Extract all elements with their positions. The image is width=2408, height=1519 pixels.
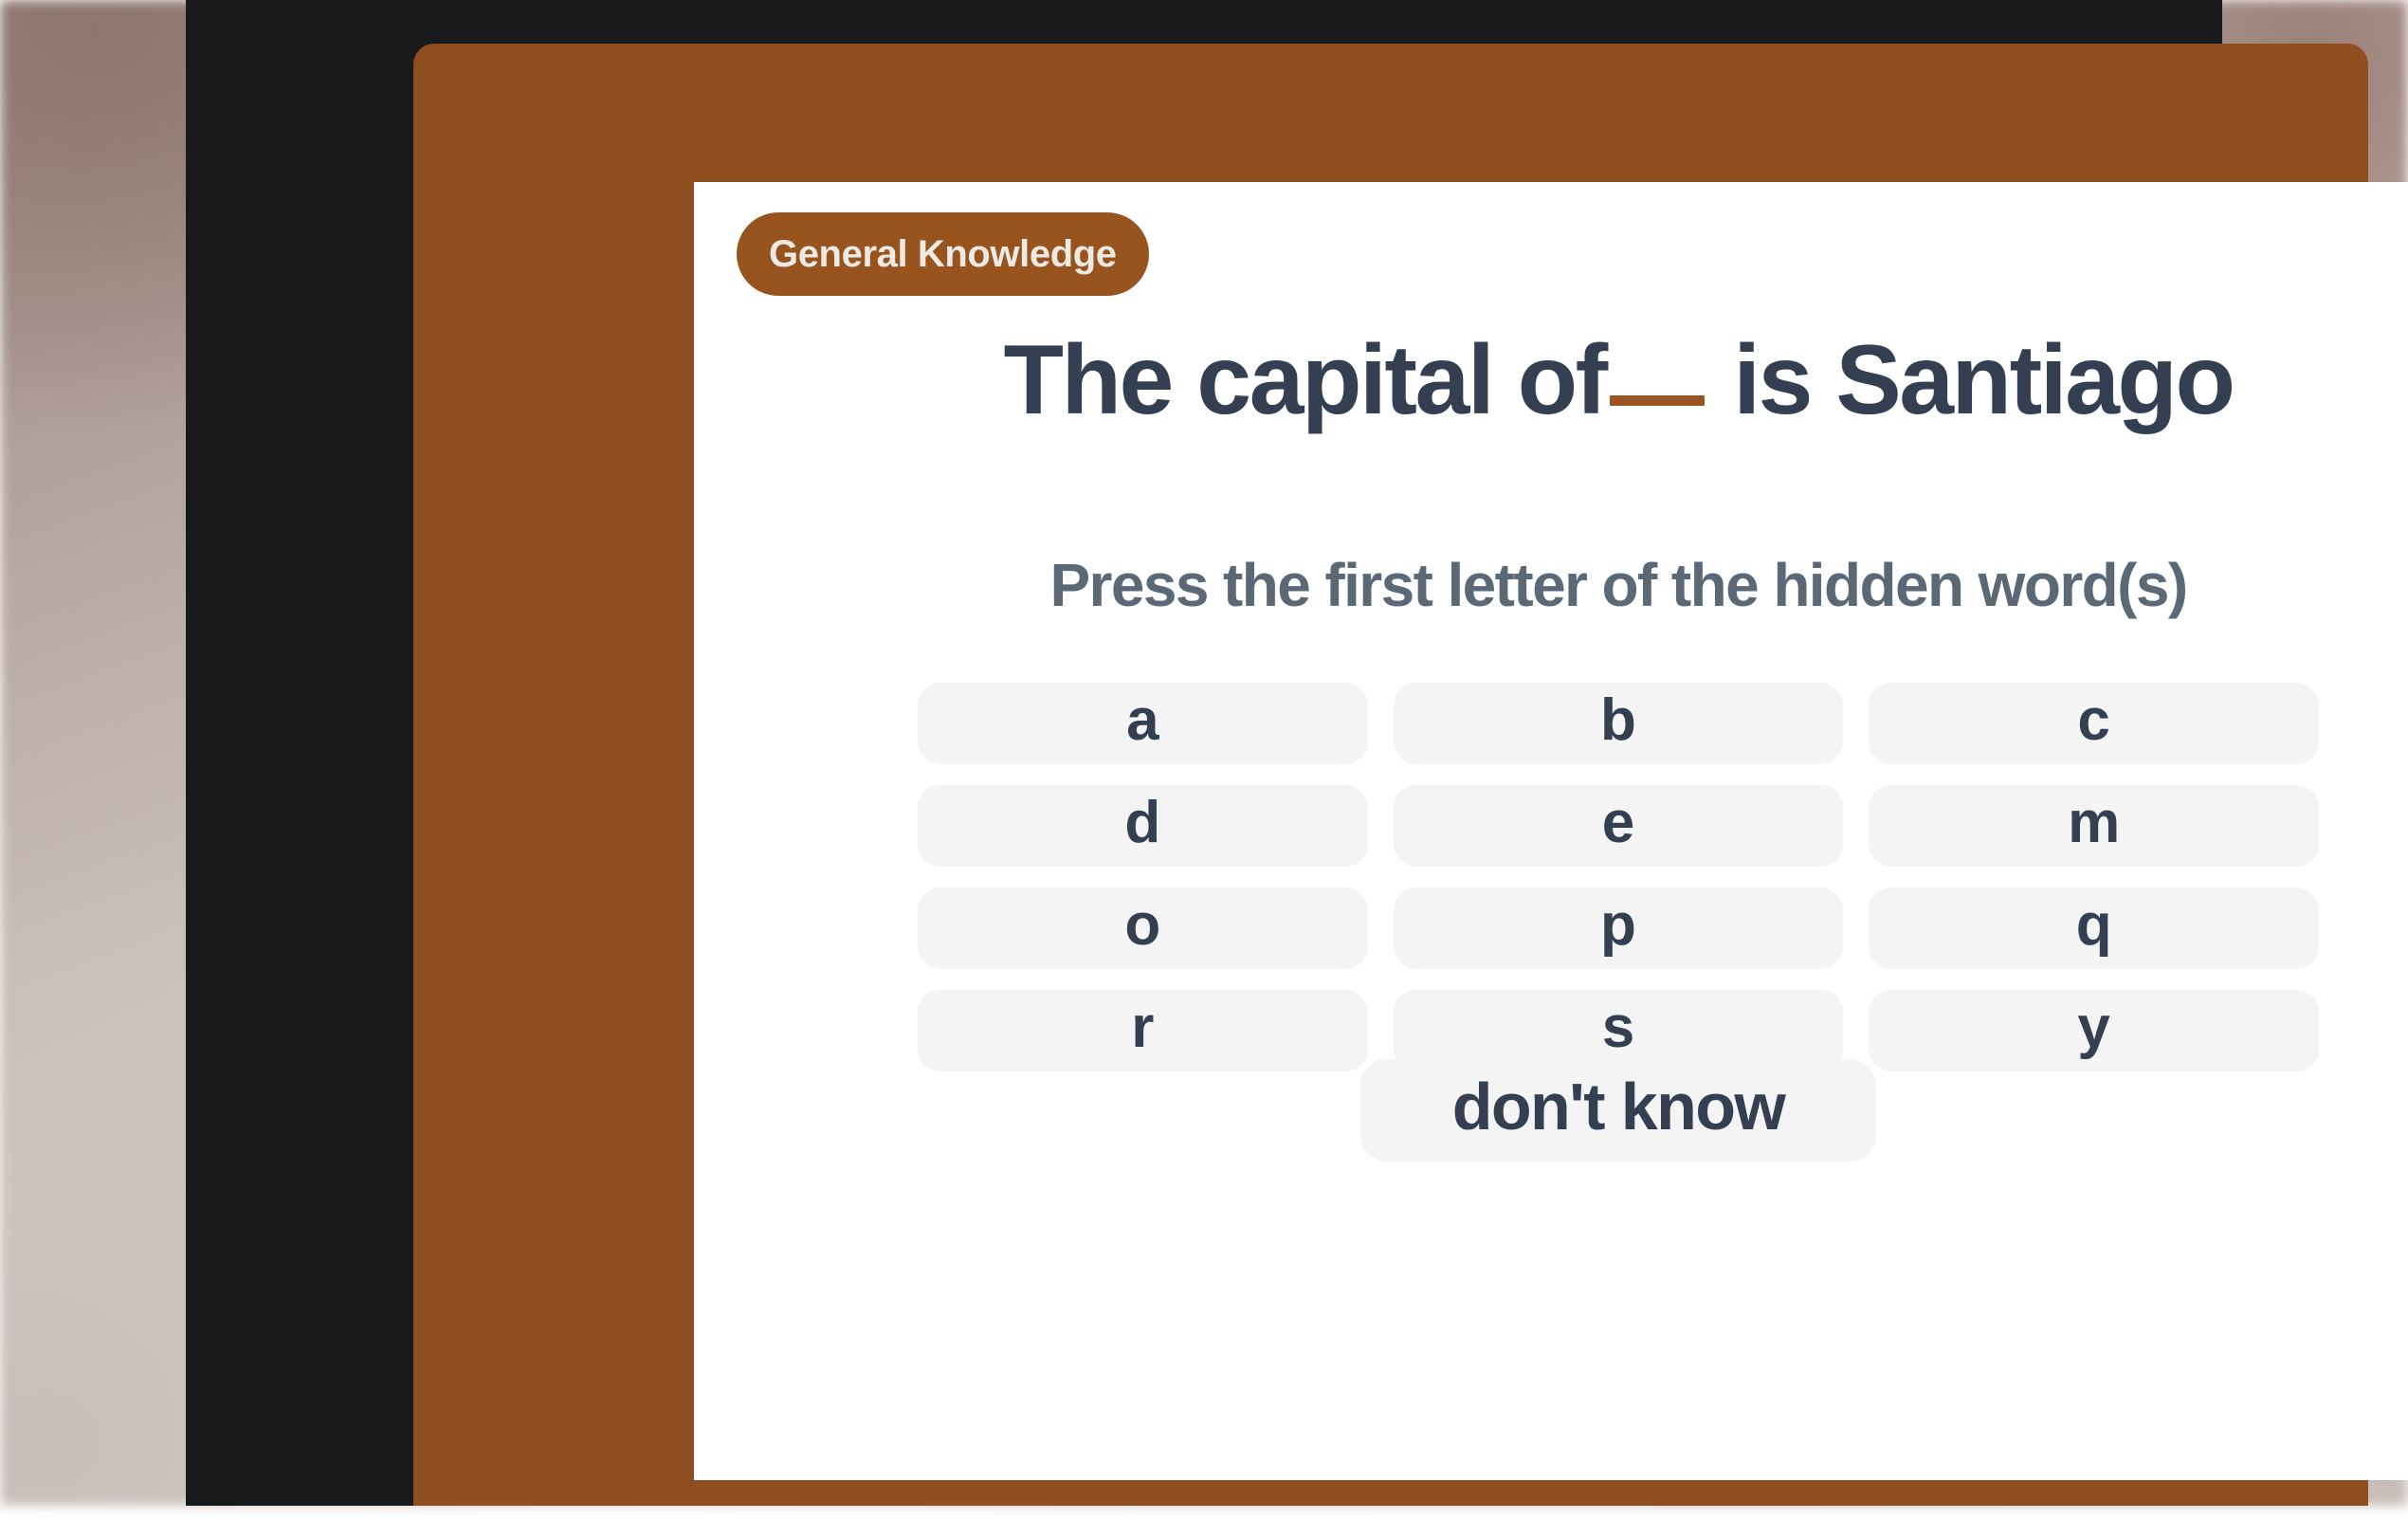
device-bezel: General Knowledge The capital of is Sant… xyxy=(186,0,2222,1506)
question-before-blank: The capital of xyxy=(1003,325,1605,435)
letter-key-e[interactable]: e xyxy=(1394,785,1844,867)
category-badge-label: General Knowledge xyxy=(769,233,1117,276)
prompt-text: Press the first letter of the hidden wor… xyxy=(694,550,2408,620)
question-after-blank: is Santiago xyxy=(1733,325,2233,435)
quiz-card: General Knowledge The capital of is Sant… xyxy=(694,182,2408,1480)
letter-key-c[interactable]: c xyxy=(1869,683,2319,764)
letter-key-o[interactable]: o xyxy=(918,888,1368,969)
letter-key-m[interactable]: m xyxy=(1869,785,2319,867)
dont-know-button[interactable]: don't know xyxy=(1360,1059,1876,1162)
bottom-caption xyxy=(186,1502,2222,1519)
letter-keypad: a b c d e m o p q r s y xyxy=(918,683,2319,1071)
letter-key-q[interactable]: q xyxy=(1869,888,2319,969)
app-frame: General Knowledge The capital of is Sant… xyxy=(413,44,2368,1506)
letter-key-a[interactable]: a xyxy=(918,683,1368,764)
dont-know-row: don't know xyxy=(694,1059,2408,1162)
letter-key-d[interactable]: d xyxy=(918,785,1368,867)
question-text: The capital of is Santiago xyxy=(694,328,2408,432)
letter-key-p[interactable]: p xyxy=(1394,888,1844,969)
category-badge[interactable]: General Knowledge xyxy=(737,212,1149,296)
letter-key-b[interactable]: b xyxy=(1394,683,1844,764)
